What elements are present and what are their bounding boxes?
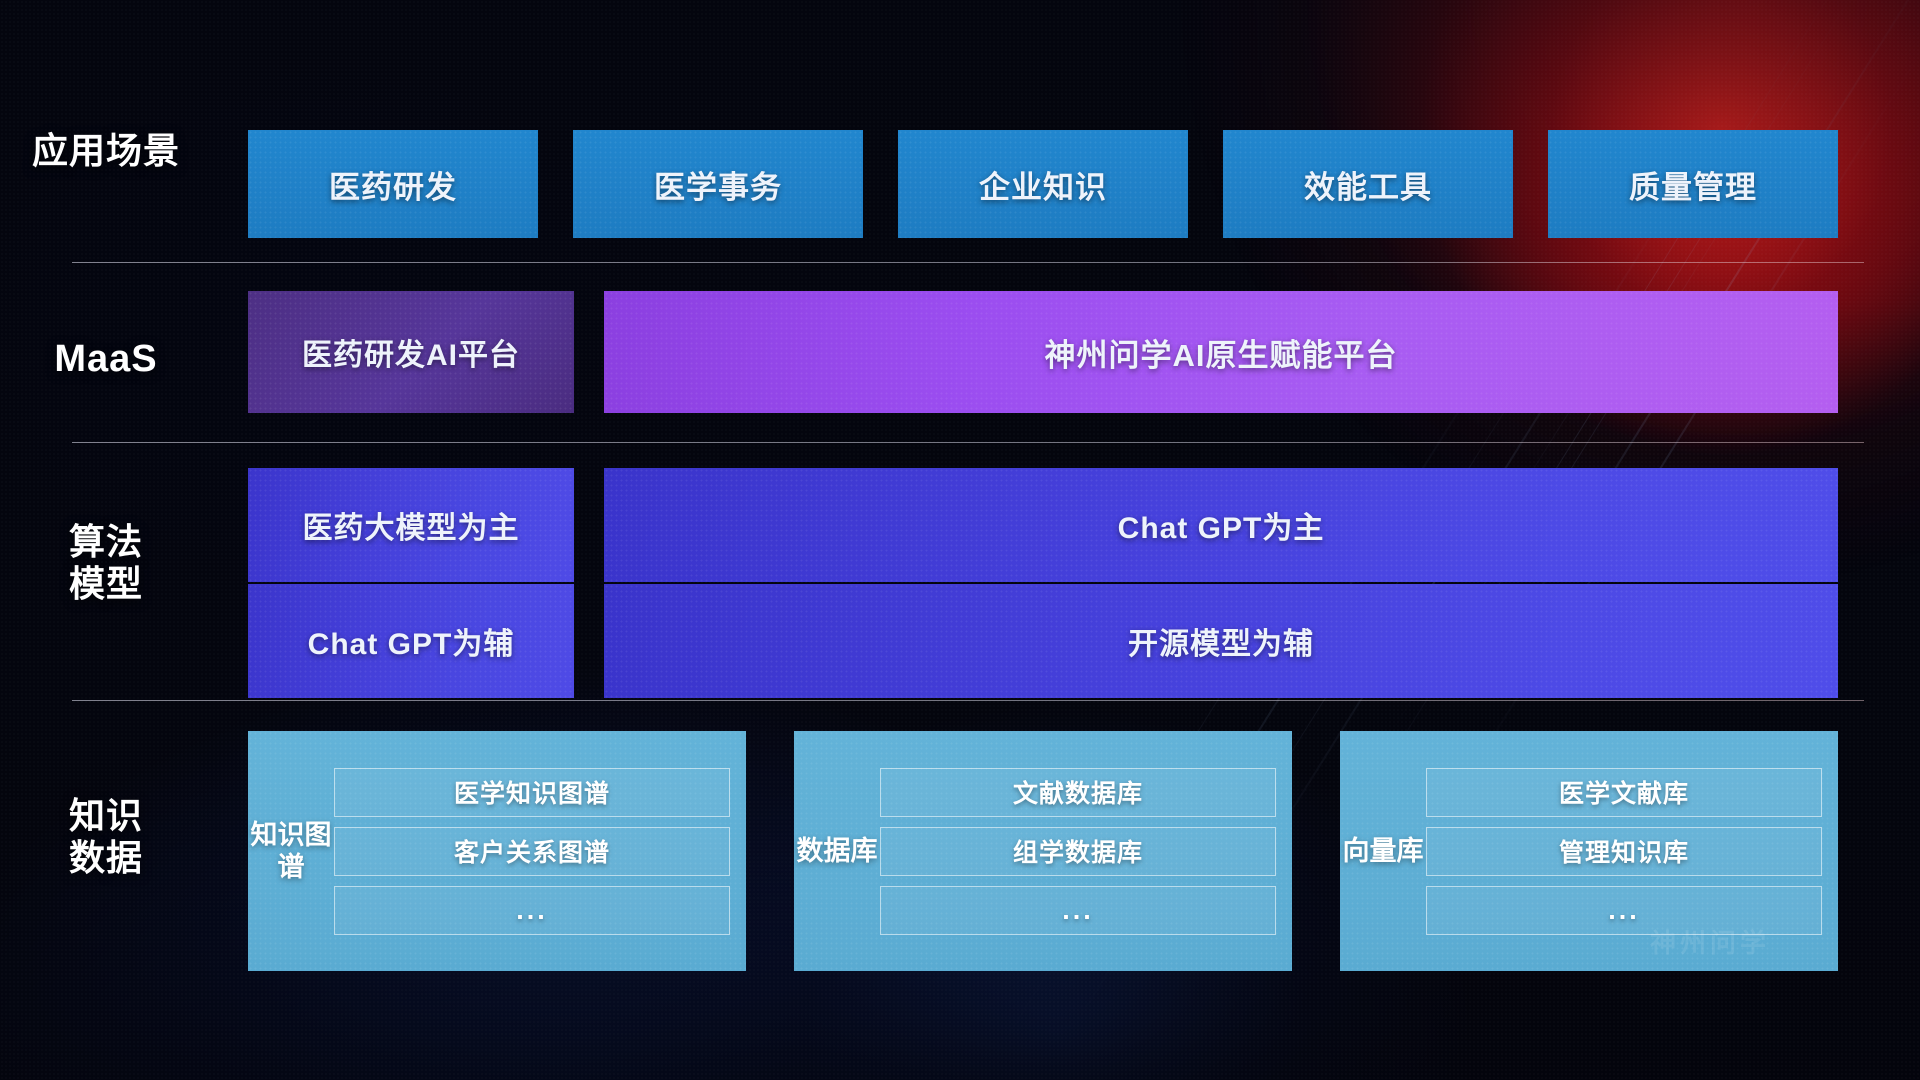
app-box-0-label: 医药研发 bbox=[329, 162, 457, 207]
algo-box-2-label: Chat GPT为辅 bbox=[308, 619, 515, 663]
knowledge-group-graph-title: 知识图谱 bbox=[248, 819, 334, 884]
app-box-4[interactable]: 质量管理 bbox=[1548, 130, 1838, 238]
row-label-application-line1: 应用场景 bbox=[0, 130, 212, 172]
knowledge-item[interactable]: 文献数据库 bbox=[880, 768, 1276, 817]
knowledge-item[interactable]: 医学知识图谱 bbox=[334, 768, 730, 817]
algo-box-3-label: 开源模型为辅 bbox=[1128, 619, 1314, 663]
knowledge-item-more[interactable]: ... bbox=[880, 886, 1276, 935]
algo-box-0-label: 医药大模型为主 bbox=[303, 503, 520, 547]
app-box-4-label: 质量管理 bbox=[1629, 162, 1757, 207]
app-box-2[interactable]: 企业知识 bbox=[898, 130, 1188, 238]
architecture-diagram: 应用场景 医药研发 医学事务 企业知识 效能工具 质量管理 MaaS 医药研发A… bbox=[0, 0, 1920, 1080]
divider-2 bbox=[72, 442, 1864, 443]
knowledge-item-more[interactable]: ... bbox=[334, 886, 730, 935]
algo-box-medical-model-primary[interactable]: 医药大模型为主 bbox=[248, 468, 574, 582]
knowledge-group-vector[interactable]: 向量库 医学文献库 管理知识库 ... bbox=[1340, 731, 1838, 971]
app-box-1[interactable]: 医学事务 bbox=[573, 130, 863, 238]
knowledge-item[interactable]: 管理知识库 bbox=[1426, 827, 1822, 876]
row-label-knowledge-line1: 知识 bbox=[0, 795, 212, 837]
row-label-knowledge: 知识 数据 bbox=[0, 795, 212, 879]
app-box-0[interactable]: 医药研发 bbox=[248, 130, 538, 238]
row-label-algorithm-line2: 模型 bbox=[0, 563, 212, 605]
knowledge-group-database-items: 文献数据库 组学数据库 ... bbox=[880, 768, 1276, 935]
knowledge-item-more[interactable]: ... bbox=[1426, 886, 1822, 935]
algo-box-opensource-secondary[interactable]: 开源模型为辅 bbox=[604, 584, 1838, 698]
app-box-2-label: 企业知识 bbox=[979, 162, 1107, 207]
knowledge-group-vector-items: 医学文献库 管理知识库 ... bbox=[1426, 768, 1822, 935]
app-box-3-label: 效能工具 bbox=[1304, 162, 1432, 207]
maas-box-shenzhou-platform[interactable]: 神州问学AI原生赋能平台 bbox=[604, 291, 1838, 413]
knowledge-item[interactable]: 组学数据库 bbox=[880, 827, 1276, 876]
algo-box-1-label: Chat GPT为主 bbox=[1118, 503, 1325, 547]
row-label-maas: MaaS bbox=[0, 337, 212, 381]
knowledge-group-graph-items: 医学知识图谱 客户关系图谱 ... bbox=[334, 768, 730, 935]
knowledge-group-database-title: 数据库 bbox=[794, 835, 880, 867]
divider-1 bbox=[72, 262, 1864, 263]
knowledge-item[interactable]: 客户关系图谱 bbox=[334, 827, 730, 876]
row-label-knowledge-line2: 数据 bbox=[0, 837, 212, 879]
row-label-algorithm: 算法 模型 bbox=[0, 521, 212, 605]
knowledge-group-graph[interactable]: 知识图谱 医学知识图谱 客户关系图谱 ... bbox=[248, 731, 746, 971]
divider-3 bbox=[72, 700, 1864, 701]
algo-box-chatgpt-secondary[interactable]: Chat GPT为辅 bbox=[248, 584, 574, 698]
knowledge-group-database[interactable]: 数据库 文献数据库 组学数据库 ... bbox=[794, 731, 1292, 971]
app-box-1-label: 医学事务 bbox=[654, 162, 782, 207]
row-label-algorithm-line1: 算法 bbox=[0, 521, 212, 563]
app-box-3[interactable]: 效能工具 bbox=[1223, 130, 1513, 238]
maas-box-1-label: 神州问学AI原生赋能平台 bbox=[1045, 330, 1398, 375]
knowledge-group-vector-title: 向量库 bbox=[1340, 835, 1426, 867]
row-label-application: 应用场景 bbox=[0, 130, 212, 172]
row-label-maas-text: MaaS bbox=[0, 337, 212, 381]
knowledge-item[interactable]: 医学文献库 bbox=[1426, 768, 1822, 817]
algo-box-chatgpt-primary[interactable]: Chat GPT为主 bbox=[604, 468, 1838, 582]
maas-box-0-label: 医药研发AI平台 bbox=[302, 330, 520, 374]
maas-box-medical-ai-platform[interactable]: 医药研发AI平台 bbox=[248, 291, 574, 413]
